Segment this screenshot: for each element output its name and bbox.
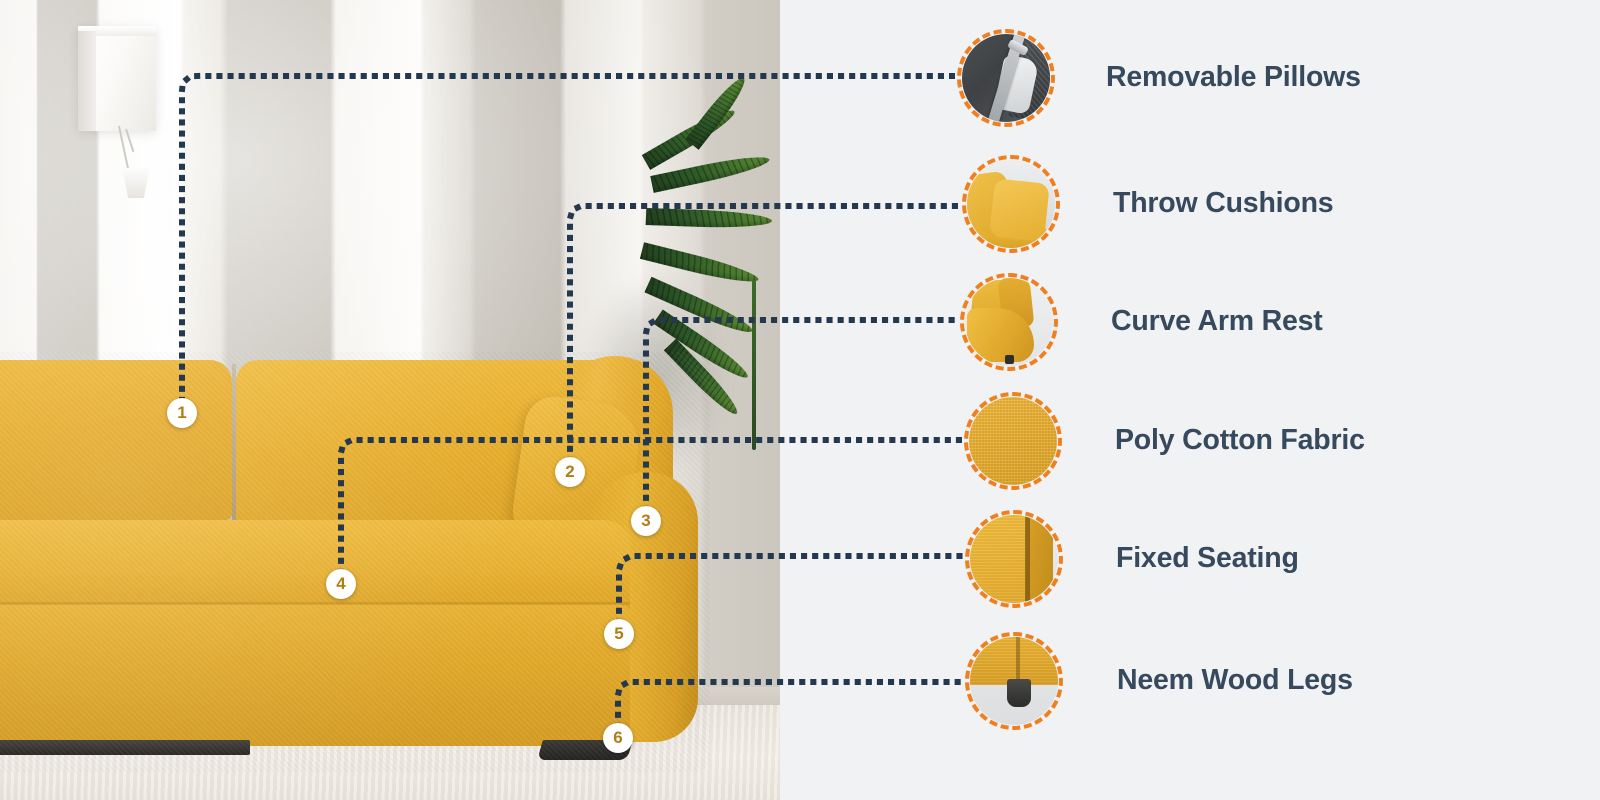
sofa-base	[0, 604, 630, 746]
curve-arm-rest-thumb[interactable]	[960, 273, 1058, 371]
sofa	[0, 352, 710, 772]
callout-marker-4[interactable]: 4	[326, 569, 356, 599]
sofa-seat-seam	[0, 602, 630, 605]
poly-cotton-fabric-ring	[964, 392, 1062, 490]
callout-marker-1[interactable]: 1	[167, 398, 197, 428]
callout-marker-5[interactable]: 5	[604, 619, 634, 649]
neem-wood-legs-thumb[interactable]	[965, 632, 1063, 730]
neem-wood-legs-ring	[965, 632, 1063, 730]
sofa-base-rail	[0, 740, 250, 755]
wall-sconce-side	[78, 31, 96, 131]
throw-cushions-ring	[962, 155, 1060, 253]
fixed-seating-ring	[965, 510, 1063, 608]
callout-marker-3[interactable]: 3	[631, 506, 661, 536]
curve-arm-rest-ring	[960, 273, 1058, 371]
sofa-seat	[0, 520, 630, 612]
sofa-back-cushion-left	[0, 360, 232, 520]
removable-pillows-thumb[interactable]	[957, 29, 1055, 127]
throw-cushions-thumb[interactable]	[962, 155, 1060, 253]
callout-marker-2[interactable]: 2	[555, 457, 585, 487]
product-photo	[0, 0, 780, 800]
poly-cotton-fabric-thumb[interactable]	[964, 392, 1062, 490]
fixed-seating-thumb[interactable]	[965, 510, 1063, 608]
palm-stem	[752, 280, 756, 450]
infographic-stage: 1 2 3 4 5 6 Removable Pillows Throw Cush…	[0, 0, 1600, 800]
feature-label-6: Neem Wood Legs	[1117, 664, 1353, 697]
feature-label-4: Poly Cotton Fabric	[1115, 424, 1365, 457]
feature-label-5: Fixed Seating	[1116, 542, 1299, 575]
feature-label-3: Curve Arm Rest	[1111, 305, 1323, 338]
palm-frond	[646, 208, 773, 229]
feature-label-1: Removable Pillows	[1106, 61, 1361, 94]
feature-label-2: Throw Cushions	[1113, 187, 1333, 220]
callout-marker-6[interactable]: 6	[603, 723, 633, 753]
sofa-back-seam	[232, 364, 236, 522]
removable-pillows-ring	[957, 29, 1055, 127]
